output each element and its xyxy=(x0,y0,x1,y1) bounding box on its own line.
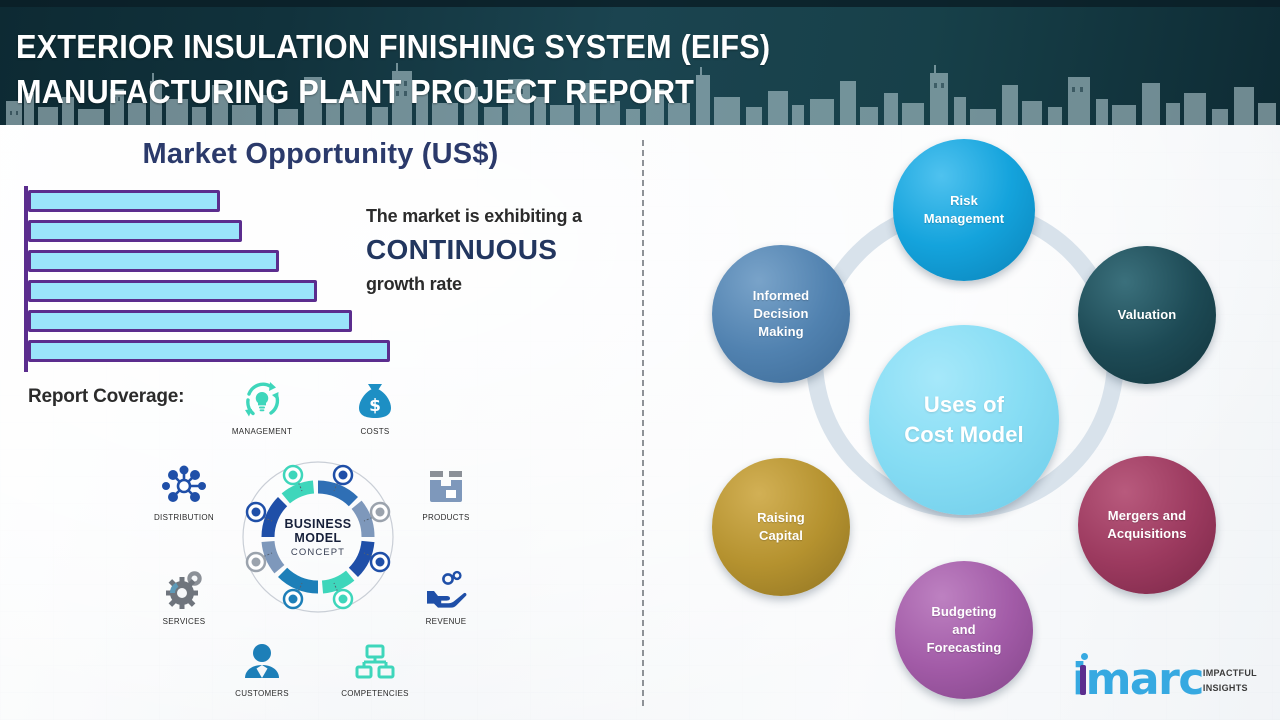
node-label-line: Acquisitions xyxy=(1101,525,1192,543)
logo-divider xyxy=(1080,665,1086,695)
svg-text:$: $ xyxy=(369,396,381,416)
node-label-line: and xyxy=(921,621,1008,639)
coverage-item-label: COMPETENCIES xyxy=(327,689,423,698)
node-raising-capital[interactable]: Raising Capital xyxy=(712,458,850,596)
market-opportunity-title: Market Opportunity (US$) xyxy=(28,138,613,171)
recycle-bulb-icon xyxy=(214,376,310,424)
page-title: EXTERIOR INSULATION FINISHING SYSTEM (EI… xyxy=(16,24,1116,114)
node-label-line: Mergers and xyxy=(1101,507,1192,525)
report-coverage-label: Report Coverage: xyxy=(28,386,184,408)
node-budgeting-and-forecasting[interactable]: Budgeting and Forecasting xyxy=(895,561,1033,699)
page-header: EXTERIOR INSULATION FINISHING SYSTEM (EI… xyxy=(0,0,1280,125)
coverage-item-label: COSTS xyxy=(327,427,423,436)
callout-line2: CONTINUOUS xyxy=(366,229,646,271)
slide-root: EXTERIOR INSULATION FINISHING SYSTEM (EI… xyxy=(0,0,1280,720)
money-bag-icon: $ xyxy=(327,376,423,424)
node-label-line: Risk xyxy=(918,192,1010,210)
coverage-item-competencies[interactable]: COMPETENCIES xyxy=(327,638,423,698)
node-label-line: Informed xyxy=(747,287,815,305)
center-node-line1: Uses of xyxy=(898,390,1030,420)
market-opportunity-bar-chart xyxy=(24,186,424,372)
coverage-item-customers[interactable]: CUSTOMERS xyxy=(214,638,310,698)
node-mergers-and-acquisitions[interactable]: Mergers and Acquisitions xyxy=(1078,456,1216,594)
node-label-line: Capital xyxy=(751,527,811,545)
node-label-line: Raising xyxy=(751,509,811,527)
hand-coins-icon xyxy=(398,566,494,614)
growth-callout: The market is exhibiting a CONTINUOUS gr… xyxy=(366,203,646,297)
person-icon xyxy=(214,638,310,686)
chart-bar xyxy=(28,250,279,272)
coverage-item-distribution[interactable]: DISTRIBUTION xyxy=(136,462,232,522)
coverage-item-label: MANAGEMENT xyxy=(214,427,310,436)
page-title-line1: EXTERIOR INSULATION FINISHING SYSTEM (EI… xyxy=(16,24,1039,69)
business-model-hub: BUSINESS MODEL CONCEPT xyxy=(236,455,400,619)
node-label-line: Valuation xyxy=(1112,306,1183,324)
node-risk-management[interactable]: Risk Management xyxy=(893,139,1035,281)
gears-icon xyxy=(136,566,232,614)
panel-divider xyxy=(642,140,644,706)
chart-bar xyxy=(28,220,242,242)
node-label-line: Management xyxy=(918,210,1010,228)
business-model-donut-icon xyxy=(236,455,400,619)
node-label-line: Decision xyxy=(747,305,815,323)
node-label-line: Budgeting xyxy=(921,603,1008,621)
network-nodes-icon xyxy=(136,462,232,510)
coverage-item-costs[interactable]: $ COSTS xyxy=(327,376,423,436)
callout-line3: growth rate xyxy=(366,271,646,297)
page-title-line2: MANUFACTURING PLANT PROJECT REPORT xyxy=(16,69,1039,114)
coverage-item-label: PRODUCTS xyxy=(398,513,494,522)
logo-dot-icon xyxy=(1081,653,1088,660)
chart-bar xyxy=(28,340,390,362)
node-valuation[interactable]: Valuation xyxy=(1078,246,1216,384)
callout-line1: The market is exhibiting a xyxy=(366,203,646,229)
open-box-icon xyxy=(398,462,494,510)
coverage-item-label: CUSTOMERS xyxy=(214,689,310,698)
logo-tagline-line2: INSIGHTS xyxy=(1203,683,1257,694)
node-uses-of-cost-model[interactable]: Uses of Cost Model xyxy=(869,325,1059,515)
chart-bar xyxy=(28,310,352,332)
logo-tagline-line1: IMPACTFUL xyxy=(1203,668,1257,679)
org-chart-icon xyxy=(327,638,423,686)
node-informed-decision-making[interactable]: Informed Decision Making xyxy=(712,245,850,383)
coverage-item-management[interactable]: MANAGEMENT xyxy=(214,376,310,436)
coverage-item-label: DISTRIBUTION xyxy=(136,513,232,522)
imarc-logo[interactable]: imarc IMPACTFUL INSIGHTS xyxy=(1072,662,1257,698)
node-label-line: Forecasting xyxy=(921,639,1008,657)
node-label-line: Making xyxy=(747,323,815,341)
chart-bar xyxy=(28,280,317,302)
header-top-bar xyxy=(0,0,1280,7)
logo-wordmark: imarc xyxy=(1072,662,1203,698)
coverage-item-label: SERVICES xyxy=(136,617,232,626)
center-node-line2: Cost Model xyxy=(898,420,1030,450)
coverage-item-services[interactable]: SERVICES xyxy=(136,566,232,626)
coverage-item-products[interactable]: PRODUCTS xyxy=(398,462,494,522)
coverage-item-revenue[interactable]: REVENUE xyxy=(398,566,494,626)
chart-bar xyxy=(28,190,220,212)
coverage-item-label: REVENUE xyxy=(398,617,494,626)
